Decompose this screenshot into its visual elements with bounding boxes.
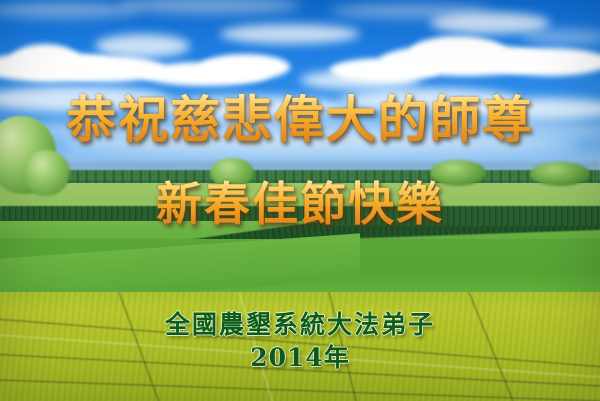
signature-line-1: 全國農墾系統大法弟子 [0, 310, 600, 340]
cloud-soft [300, 70, 420, 90]
signature-year: 2014年 [0, 343, 600, 373]
cloud [490, 48, 600, 76]
cloud-soft [430, 12, 550, 34]
greeting-line-2: 新春佳節快樂 [0, 178, 600, 230]
cloud-wisp [520, 30, 600, 44]
cloud-soft [95, 34, 190, 58]
cloud [200, 54, 290, 80]
greeting-line-1: 恭祝慈悲偉大的師尊 [0, 92, 600, 148]
greeting-card-image: 恭祝慈悲偉大的師尊 新春佳節快樂 全國農墾系統大法弟子 2014年 [0, 0, 600, 401]
cloud-soft [220, 24, 360, 44]
